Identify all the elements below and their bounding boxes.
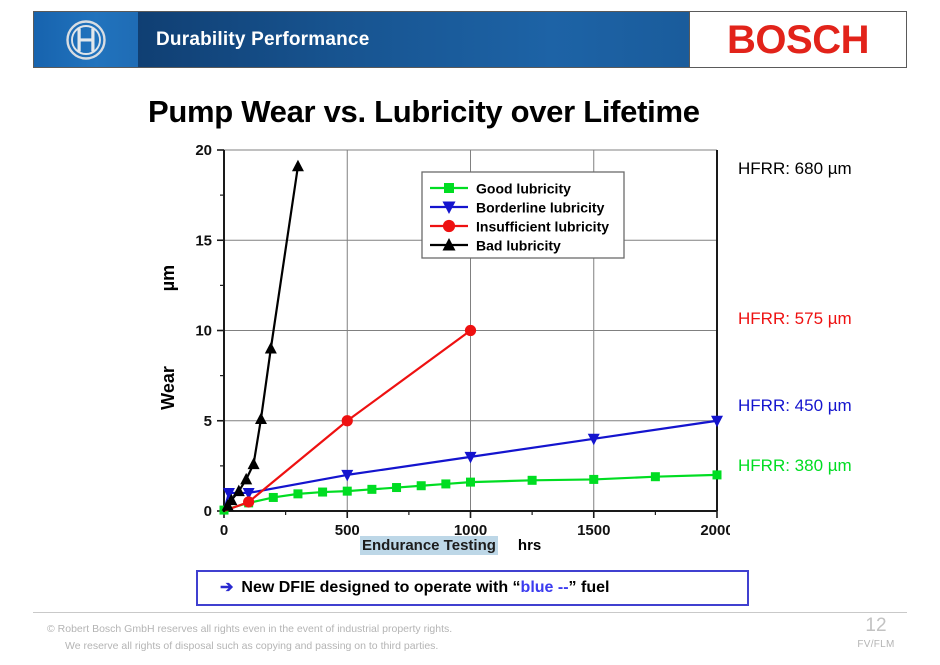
page-title: Pump Wear vs. Lubricity over Lifetime [148,94,700,130]
x-axis-unit: hrs [518,537,541,554]
data-point-marker [713,470,722,479]
data-point-marker [269,493,278,502]
data-point-marker [265,342,277,354]
series-bad-lubricity [222,160,304,511]
data-point-marker [243,496,254,507]
data-point-marker [466,478,475,487]
header-title: Durability Performance [156,29,369,51]
series-line [224,166,298,511]
data-point-marker [292,160,304,172]
bosch-wordmark: BOSCH [727,20,869,60]
chart-container: 0500100015002000 05101520 Wearµm Good lu… [150,138,730,558]
slide-header: Durability Performance BOSCH [33,11,907,68]
bosch-logo-emblem [65,19,107,61]
data-point-marker [528,476,537,485]
y-tick-label: 0 [204,503,212,520]
brand-cell: BOSCH [689,12,906,67]
callout-text: New DFIE designed to operate with “blue … [241,579,609,597]
legend-label: Bad lubricity [476,238,561,254]
hfrr-annotation-bad: HFRR: 680 µm [738,159,852,179]
data-point-marker [443,220,455,232]
wear-vs-lubricity-chart: 0500100015002000 05101520 Wearµm Good lu… [150,138,730,558]
chart-legend: Good lubricityBorderline lubricityInsuff… [422,172,624,258]
callout-text-after: ” fuel [569,579,610,596]
y-tick-label: 10 [195,323,212,340]
footer-copyright: © Robert Bosch GmbH reserves all rights … [47,621,452,655]
slide-canvas: Durability Performance BOSCH Pump Wear v… [0,0,940,665]
header-title-cell: Durability Performance [138,12,689,67]
hfrr-annotation-insufficient: HFRR: 575 µm [738,309,852,329]
data-point-marker [589,475,598,484]
y-axis-title-unit: µm [158,265,178,291]
data-point-marker [342,415,353,426]
arrow-icon: ➔ [220,580,233,596]
x-axis-title: Endurance Testinghrs [360,537,541,554]
legend-label: Borderline lubricity [476,200,605,216]
chart-y-tick-labels: 05101520 [195,142,212,520]
x-axis-title-highlight: Endurance Testing [360,536,498,555]
footer-line-1: © Robert Bosch GmbH reserves all rights … [47,623,452,635]
data-point-marker [465,325,476,336]
data-point-marker [651,472,660,481]
data-point-marker [248,458,260,470]
callout-box: ➔ New DFIE designed to operate with “blu… [196,570,749,606]
y-tick-label: 20 [195,142,212,159]
x-tick-label: 2000 [700,522,730,539]
hfrr-annotation-borderline: HFRR: 450 µm [738,396,852,416]
data-point-marker [444,183,454,193]
data-point-marker [318,488,327,497]
x-tick-label: 500 [335,522,360,539]
data-point-marker [293,489,302,498]
data-point-marker [255,412,267,424]
chart-y-axis-title: Wearµm [158,265,178,410]
y-axis-title-main: Wear [158,366,178,410]
hfrr-annotation-good: HFRR: 380 µm [738,456,852,476]
x-tick-label: 0 [220,522,228,539]
y-tick-label: 15 [195,232,212,249]
data-point-marker [417,481,426,490]
footer-line-2: We reserve all rights of disposal such a… [47,638,452,655]
data-point-marker [343,487,352,496]
callout-text-before: New DFIE designed to operate with “ [241,579,520,596]
department-code: FV/FLM [845,639,907,650]
data-point-marker [367,485,376,494]
callout-text-blue: blue -- [521,579,569,596]
legend-label: Good lubricity [476,181,571,197]
x-tick-label: 1500 [577,522,610,539]
data-point-marker [392,483,401,492]
data-point-marker [441,479,450,488]
page-number: 12 [856,615,896,637]
data-point-marker [240,473,252,485]
legend-label: Insufficient lubricity [476,219,609,235]
footer-divider [33,612,907,613]
logo-cell [34,12,138,67]
y-tick-label: 5 [204,413,212,430]
